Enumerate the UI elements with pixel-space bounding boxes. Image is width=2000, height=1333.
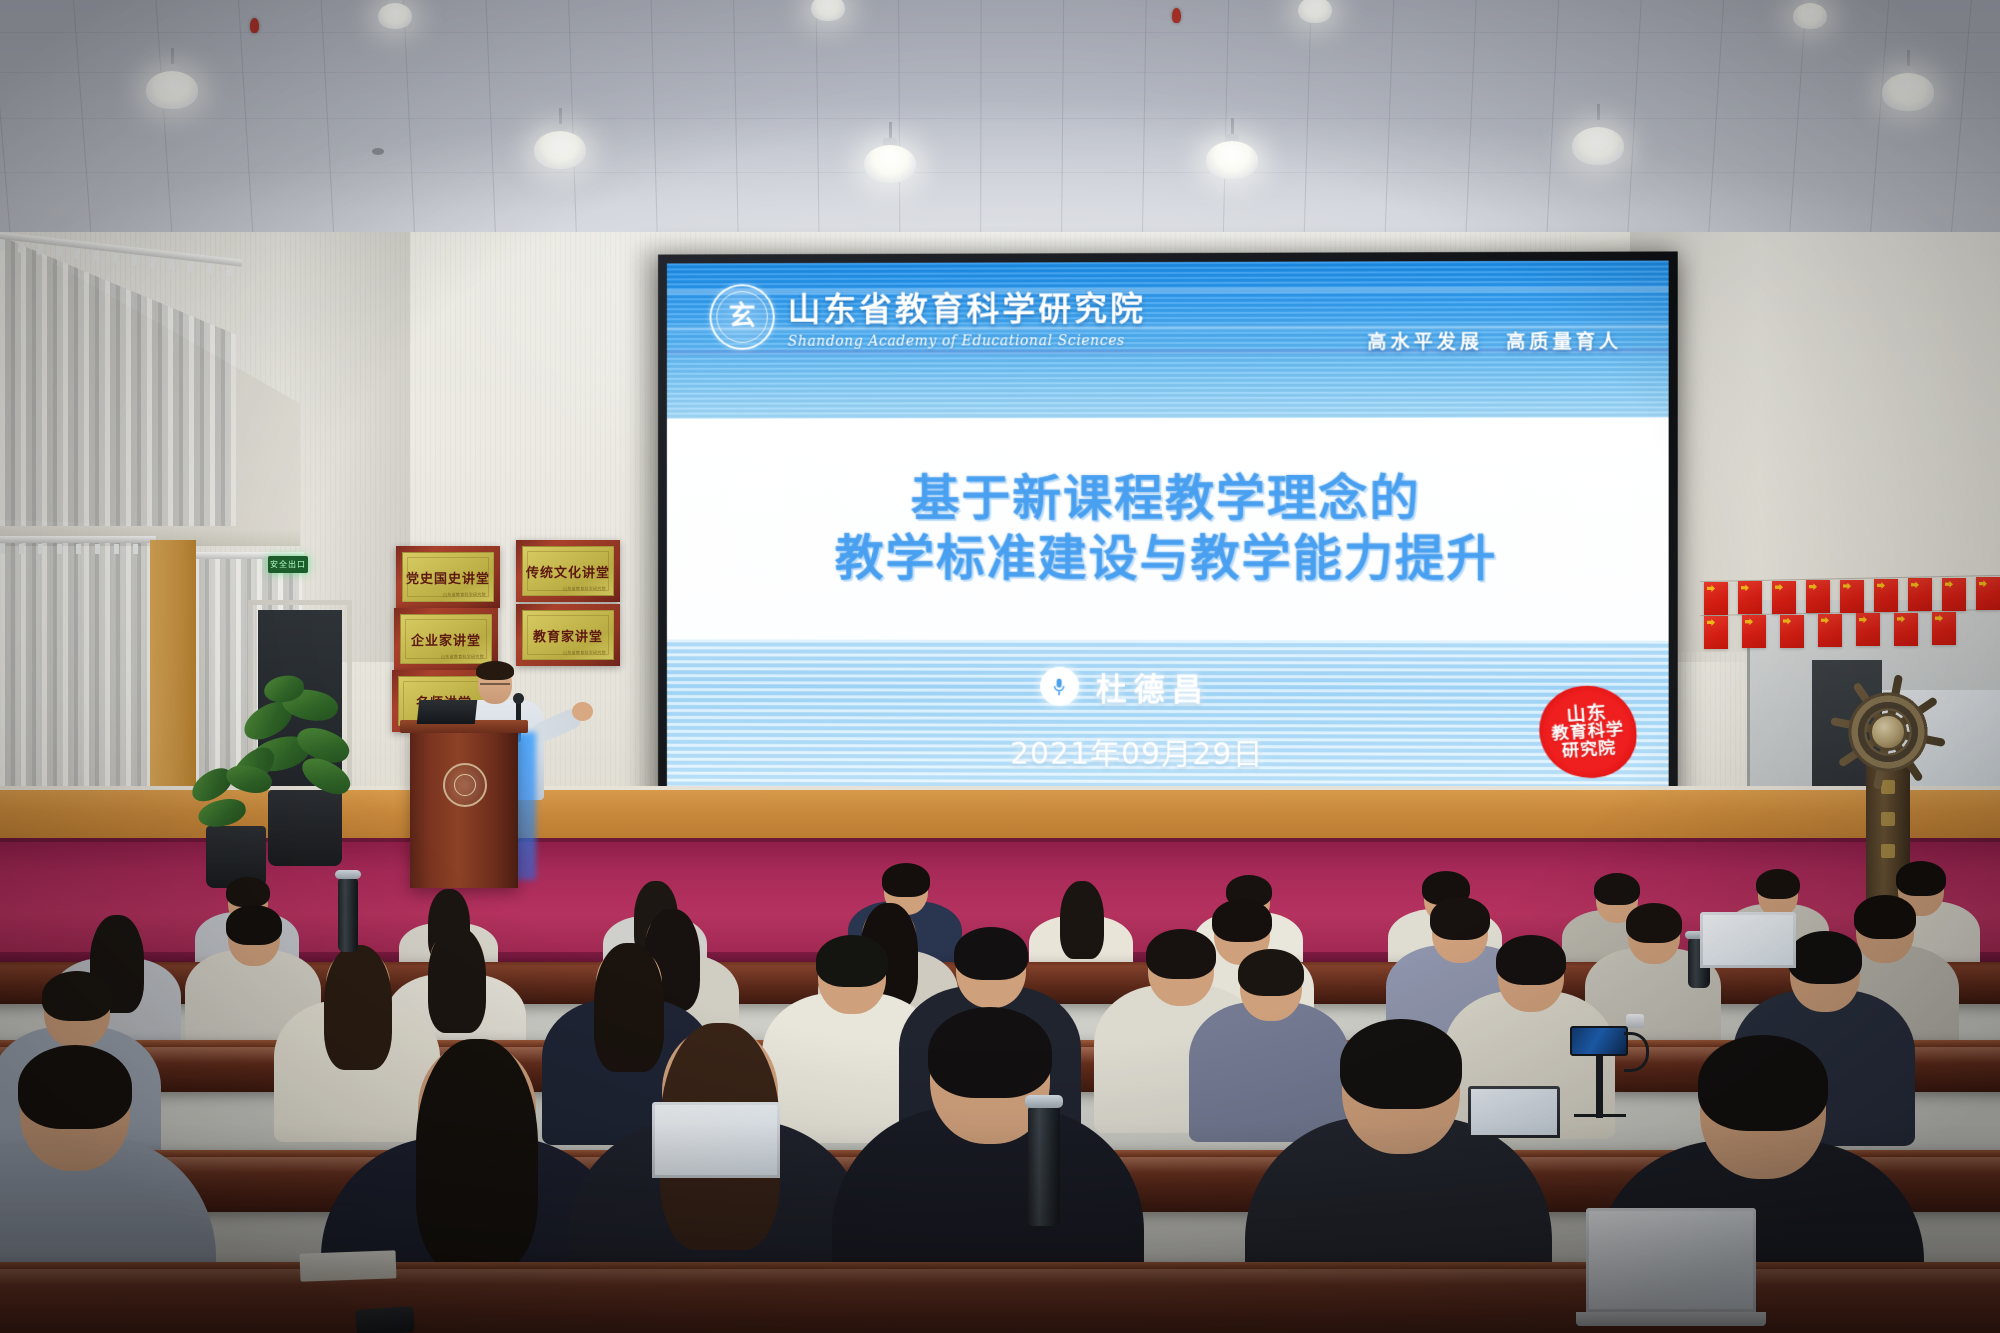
audience-hair bbox=[1756, 869, 1800, 899]
audience-hair bbox=[1594, 873, 1640, 905]
tripod-legs bbox=[1574, 1114, 1626, 1117]
slide-slogan: 高水平发展 高质量育人 bbox=[1367, 327, 1622, 355]
slide-title-line-1: 基于新课程教学理念的 bbox=[911, 469, 1421, 529]
party-flag bbox=[1856, 613, 1880, 646]
hammer-sickle-icon bbox=[1707, 619, 1715, 626]
audience-hair bbox=[1788, 931, 1862, 984]
planter-pot bbox=[268, 790, 342, 866]
thermos-flask bbox=[1028, 1106, 1060, 1226]
speaker-glasses bbox=[480, 683, 510, 692]
slide-title-area: 基于新课程教学理念的 教学标准建设与教学能力提升 bbox=[667, 417, 1669, 640]
wall-plaque: 党史国史讲堂 山东省教育科学研究院 bbox=[396, 546, 500, 608]
party-flag bbox=[1704, 582, 1728, 615]
audience-hair bbox=[594, 943, 664, 1072]
smartphone-on-desk[interactable] bbox=[355, 1306, 415, 1333]
exit-sign: 安全出口 bbox=[268, 556, 308, 573]
audience-hair bbox=[226, 905, 282, 945]
plaque-subtext: 山东省教育科学研究院 bbox=[563, 650, 606, 656]
org-name-english: Shandong Academy of Educational Sciences bbox=[788, 333, 1146, 350]
audience-hair bbox=[1340, 1019, 1462, 1109]
audience-hair bbox=[1896, 861, 1946, 896]
party-flag bbox=[1818, 614, 1842, 647]
audience-hair bbox=[428, 927, 486, 1033]
hammer-sickle-icon bbox=[1945, 581, 1953, 588]
wall-plaque: 传统文化讲堂 山东省教育科学研究院 bbox=[516, 540, 620, 602]
party-flag bbox=[1704, 616, 1728, 649]
audience-hair bbox=[42, 971, 112, 1021]
smoke-detector bbox=[372, 148, 384, 155]
organization-logo: 玄 山东省教育科学研究院 Shandong Academy of Educati… bbox=[710, 282, 1147, 350]
plaque-label: 企业家讲堂 bbox=[411, 630, 481, 649]
hammer-sickle-icon bbox=[1821, 617, 1829, 624]
lectern-crest-icon bbox=[443, 763, 487, 807]
audience-hair bbox=[816, 935, 888, 987]
lecture-hall-photo: 安全出口 党史国史讲堂 山东省教育科学研究院 传统文化讲堂 山东省教育科学研究院… bbox=[0, 0, 2000, 1333]
party-flag bbox=[1742, 615, 1766, 648]
audience-hair bbox=[1430, 897, 1490, 940]
laptop-screen bbox=[652, 1102, 780, 1178]
curtain-rail bbox=[0, 536, 156, 543]
sprinkler-head bbox=[250, 18, 259, 33]
thermos-flask bbox=[338, 878, 358, 952]
hammer-sickle-icon bbox=[1745, 618, 1753, 625]
laptop-keyboard[interactable] bbox=[1576, 1312, 1766, 1326]
laptop-screen bbox=[1586, 1208, 1756, 1312]
party-flag bbox=[1932, 612, 1956, 645]
audience-hair bbox=[1698, 1035, 1828, 1131]
hammer-sickle-icon bbox=[1809, 583, 1817, 590]
laptop-open[interactable] bbox=[1700, 912, 1796, 974]
plaque-subtext: 山东省教育科学研究院 bbox=[441, 654, 484, 660]
audience-hair bbox=[1854, 895, 1916, 939]
org-name-chinese: 山东省教育科学研究院 bbox=[788, 282, 1146, 331]
ships-wheel-hub bbox=[1869, 713, 1907, 751]
laptop-open[interactable] bbox=[1586, 1208, 1756, 1324]
audience-hair bbox=[18, 1045, 132, 1129]
lectern-laptop bbox=[417, 700, 478, 724]
party-flag bbox=[1908, 578, 1932, 611]
hammer-sickle-icon bbox=[1741, 584, 1749, 591]
laptop-open[interactable] bbox=[652, 1102, 780, 1184]
laptop-screen bbox=[1468, 1086, 1560, 1138]
audience-hair bbox=[324, 945, 392, 1070]
audience-hair bbox=[954, 927, 1028, 980]
audience-hair bbox=[882, 863, 930, 897]
tripod-arm bbox=[1624, 1032, 1649, 1072]
audience-hair bbox=[1212, 899, 1272, 942]
plaque-label: 教育家讲堂 bbox=[533, 626, 603, 645]
led-display-screen[interactable]: 玄 山东省教育科学研究院 Shandong Academy of Educati… bbox=[658, 251, 1678, 801]
laptop-open[interactable] bbox=[1468, 1086, 1560, 1144]
webcam-icon bbox=[1626, 1014, 1644, 1028]
slide-title-line-2: 教学标准建设与教学能力提升 bbox=[835, 529, 1498, 589]
hammer-sickle-icon bbox=[1775, 584, 1783, 591]
hammer-sickle-icon bbox=[1979, 580, 1987, 587]
plaque-subtext: 山东省教育科学研究院 bbox=[563, 586, 606, 592]
presentation-slide: 玄 山东省教育科学研究院 Shandong Academy of Educati… bbox=[667, 261, 1669, 793]
audience-hair bbox=[416, 1039, 538, 1270]
party-flag bbox=[1976, 577, 2000, 610]
presenter-name: 杜德昌 bbox=[1096, 664, 1210, 709]
audience-hair bbox=[226, 877, 270, 907]
hammer-sickle-icon bbox=[1877, 582, 1885, 589]
party-flag bbox=[1874, 579, 1898, 612]
audience-hair bbox=[1238, 949, 1304, 996]
audience-hair bbox=[928, 1007, 1052, 1098]
emblem-glyph: 玄 bbox=[729, 303, 756, 330]
exit-sign-label: 安全出口 bbox=[270, 559, 306, 570]
hammer-sickle-icon bbox=[1843, 583, 1851, 590]
audience-hair bbox=[1146, 929, 1216, 979]
wall-plaque: 教育家讲堂 山东省教育科学研究院 bbox=[516, 604, 620, 666]
microphone-icon bbox=[1040, 667, 1079, 706]
slide-header-band: 玄 山东省教育科学研究院 Shandong Academy of Educati… bbox=[667, 261, 1669, 419]
wall-plaque: 企业家讲堂 山东省教育科学研究院 bbox=[394, 608, 498, 670]
sprinkler-head bbox=[1172, 8, 1181, 23]
speaker-hair bbox=[476, 661, 514, 680]
speaker-hand bbox=[572, 702, 593, 721]
party-flag bbox=[1894, 613, 1918, 646]
hammer-sickle-icon bbox=[1911, 581, 1919, 588]
curtain-hooks bbox=[0, 544, 156, 554]
slide-footer-band: 杜德昌 2021年09月29日 山东 教育科学 研究院 bbox=[667, 640, 1669, 793]
hammer-sickle-icon bbox=[1859, 616, 1867, 623]
audience-hair bbox=[1060, 881, 1104, 959]
seal-line-3: 研究院 bbox=[1561, 740, 1617, 761]
plaque-label: 党史国史讲堂 bbox=[406, 568, 490, 587]
slide-date: 2021年09月29日 bbox=[1010, 729, 1263, 774]
presenter-block: 杜德昌 bbox=[1040, 664, 1210, 709]
plaque-subtext: 山东省教育科学研究院 bbox=[443, 592, 486, 598]
notebook bbox=[300, 1250, 397, 1281]
phone-tripod-recorder[interactable] bbox=[1570, 1026, 1654, 1122]
party-flag bbox=[1840, 580, 1864, 613]
party-flag bbox=[1942, 578, 1966, 611]
academy-emblem-icon: 玄 bbox=[710, 284, 775, 350]
party-flag bbox=[1772, 581, 1796, 614]
party-flag bbox=[1806, 580, 1830, 613]
party-flag bbox=[1780, 615, 1804, 648]
microphone-head bbox=[513, 693, 524, 704]
party-flag bbox=[1738, 581, 1762, 614]
audience-hair bbox=[1626, 903, 1682, 943]
hammer-sickle-icon bbox=[1707, 585, 1715, 592]
plaque-label: 传统文化讲堂 bbox=[526, 562, 610, 581]
audience-hair bbox=[1496, 935, 1566, 985]
tripod-pole bbox=[1596, 1056, 1603, 1118]
laptop-screen bbox=[1700, 912, 1796, 968]
lectern bbox=[410, 728, 518, 888]
hammer-sickle-icon bbox=[1783, 618, 1791, 625]
hammer-sickle-icon bbox=[1935, 615, 1943, 622]
hammer-sickle-icon bbox=[1897, 616, 1905, 623]
audience-torso bbox=[1189, 1002, 1350, 1142]
phone-screen[interactable] bbox=[1570, 1026, 1628, 1056]
